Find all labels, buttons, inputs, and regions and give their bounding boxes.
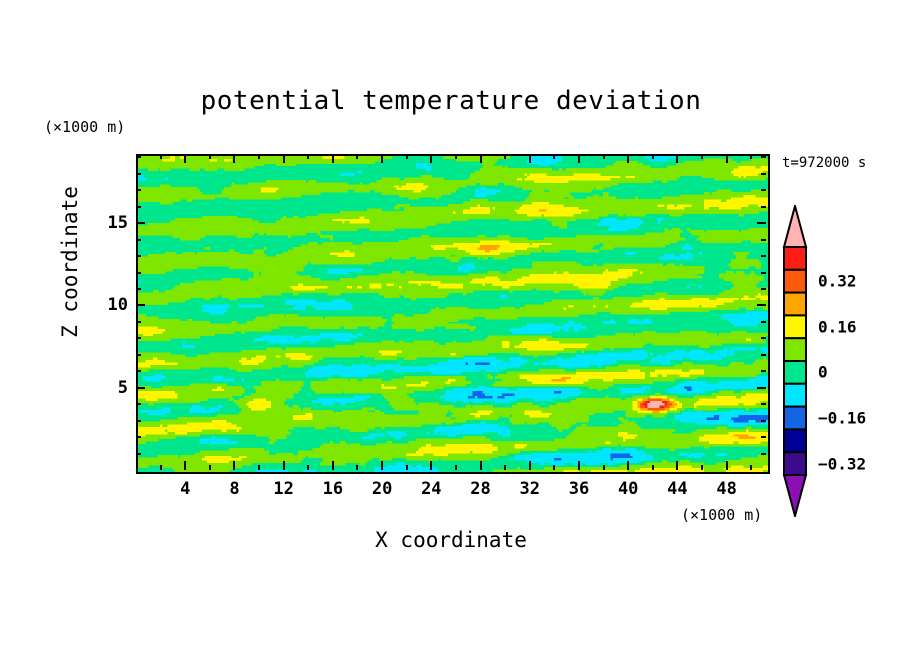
y-tick-major (136, 222, 145, 224)
y-tick-minor (136, 354, 141, 356)
x-tick-major-top (726, 154, 728, 163)
y-tick-minor (136, 288, 141, 290)
y-tick-minor-right (761, 436, 766, 438)
y-tick-minor (136, 189, 141, 191)
colorbar-tick-label: 0 (818, 363, 828, 382)
x-tick-minor-top (701, 154, 703, 159)
colorbar-band (784, 247, 806, 270)
y-tick-minor-right (761, 370, 766, 372)
y-tick-minor (136, 173, 141, 175)
x-tick-major-top (578, 154, 580, 163)
x-tick-minor (553, 465, 555, 470)
y-tick-minor-right (761, 321, 766, 323)
x-tick-label: 4 (180, 479, 190, 499)
colorbar-band (784, 429, 806, 452)
y-axis-unit-label: (×1000 m) (44, 118, 125, 136)
x-tick-minor-top (258, 154, 260, 159)
x-tick-major-top (332, 154, 334, 163)
y-tick-major-right (757, 387, 766, 389)
y-tick-minor (136, 321, 141, 323)
x-tick-minor (652, 465, 654, 470)
y-tick-minor-right (761, 288, 766, 290)
y-tick-minor (136, 370, 141, 372)
y-tick-label: 10 (94, 295, 128, 315)
y-tick-minor (136, 272, 141, 274)
y-tick-minor (136, 156, 141, 158)
y-tick-minor (136, 255, 141, 257)
x-tick-minor-top (160, 154, 162, 159)
x-tick-label: 16 (323, 479, 343, 499)
x-tick-minor (603, 465, 605, 470)
y-tick-minor-right (761, 206, 766, 208)
x-tick-major-top (627, 154, 629, 163)
x-tick-major (726, 461, 728, 470)
x-tick-minor-top (603, 154, 605, 159)
colorbar-band (784, 407, 806, 430)
x-tick-major (676, 461, 678, 470)
y-tick-major (136, 387, 145, 389)
colorbar-band (784, 361, 806, 384)
x-tick-major-top (480, 154, 482, 163)
x-tick-minor (701, 465, 703, 470)
x-tick-minor (258, 465, 260, 470)
y-tick-label: 15 (94, 213, 128, 233)
colorbar-band (784, 338, 806, 361)
contour-field (138, 156, 768, 472)
x-tick-major (184, 461, 186, 470)
x-tick-minor-top (209, 154, 211, 159)
x-tick-major (627, 461, 629, 470)
y-tick-label: 5 (94, 378, 128, 398)
x-tick-minor-top (455, 154, 457, 159)
x-tick-minor-top (504, 154, 506, 159)
y-tick-minor (136, 337, 141, 339)
y-tick-minor-right (761, 420, 766, 422)
x-tick-minor-top (307, 154, 309, 159)
x-tick-major (578, 461, 580, 470)
x-tick-minor-top (652, 154, 654, 159)
page-title: potential temperature deviation (136, 86, 766, 116)
x-tick-label: 28 (470, 479, 490, 499)
x-tick-minor (209, 465, 211, 470)
x-tick-major (283, 461, 285, 470)
contour-plot-frame (136, 154, 770, 474)
x-tick-major-top (676, 154, 678, 163)
x-tick-minor-top (406, 154, 408, 159)
x-tick-major-top (529, 154, 531, 163)
y-tick-minor-right (761, 354, 766, 356)
y-axis-title: Z coordinate (58, 172, 82, 352)
x-tick-minor (455, 465, 457, 470)
colorbar-tick-label: 0.32 (818, 272, 857, 291)
colorbar-band (784, 315, 806, 338)
x-axis-title: X coordinate (136, 528, 766, 552)
y-tick-minor (136, 436, 141, 438)
y-tick-minor-right (761, 189, 766, 191)
y-tick-minor (136, 206, 141, 208)
x-tick-label: 48 (716, 479, 736, 499)
x-tick-minor-top (750, 154, 752, 159)
y-tick-minor-right (761, 173, 766, 175)
x-tick-minor (750, 465, 752, 470)
colorbar-band (784, 452, 806, 475)
x-tick-minor (406, 465, 408, 470)
y-tick-major-right (757, 304, 766, 306)
colorbar-tick-label: −0.32 (818, 454, 866, 473)
colorbar-over-arrow (784, 206, 806, 247)
figure-root: potential temperature deviation (×1000 m… (0, 0, 904, 654)
y-tick-minor (136, 239, 141, 241)
x-tick-major (332, 461, 334, 470)
x-tick-minor-top (356, 154, 358, 159)
colorbar-under-arrow (784, 475, 806, 516)
x-tick-major (430, 461, 432, 470)
y-tick-minor-right (761, 156, 766, 158)
x-tick-major-top (283, 154, 285, 163)
x-tick-label: 32 (520, 479, 540, 499)
y-tick-major-right (757, 222, 766, 224)
x-tick-minor (160, 465, 162, 470)
y-tick-minor-right (761, 453, 766, 455)
y-tick-minor-right (761, 255, 766, 257)
x-tick-major-top (184, 154, 186, 163)
x-tick-major (381, 461, 383, 470)
x-tick-major-top (430, 154, 432, 163)
y-tick-minor-right (761, 337, 766, 339)
colorbar-band (784, 270, 806, 293)
y-tick-minor (136, 420, 141, 422)
colorbar-band (784, 384, 806, 407)
x-tick-minor-top (553, 154, 555, 159)
colorbar-swatches (782, 205, 808, 517)
x-tick-label: 24 (421, 479, 441, 499)
x-tick-major-top (381, 154, 383, 163)
colorbar-band (784, 293, 806, 316)
x-tick-minor (504, 465, 506, 470)
y-tick-minor-right (761, 272, 766, 274)
y-tick-minor-right (761, 239, 766, 241)
x-tick-label: 40 (618, 479, 638, 499)
colorbar-tick-label: 0.16 (818, 317, 857, 336)
timestamp-annotation: t=972000 s (782, 155, 866, 171)
x-tick-label: 36 (569, 479, 589, 499)
x-tick-major (233, 461, 235, 470)
y-tick-minor (136, 453, 141, 455)
x-tick-minor (356, 465, 358, 470)
x-tick-label: 20 (372, 479, 392, 499)
y-tick-minor (136, 403, 141, 405)
x-tick-label: 12 (273, 479, 293, 499)
x-tick-label: 44 (667, 479, 687, 499)
colorbar-tick-label: −0.16 (818, 409, 866, 428)
y-tick-major (136, 304, 145, 306)
x-tick-minor (307, 465, 309, 470)
colorbar (782, 205, 808, 517)
x-tick-major-top (233, 154, 235, 163)
x-tick-major (529, 461, 531, 470)
x-tick-label: 8 (229, 479, 239, 499)
x-axis-unit-label: (×1000 m) (681, 506, 762, 524)
y-tick-minor-right (761, 403, 766, 405)
x-tick-major (480, 461, 482, 470)
